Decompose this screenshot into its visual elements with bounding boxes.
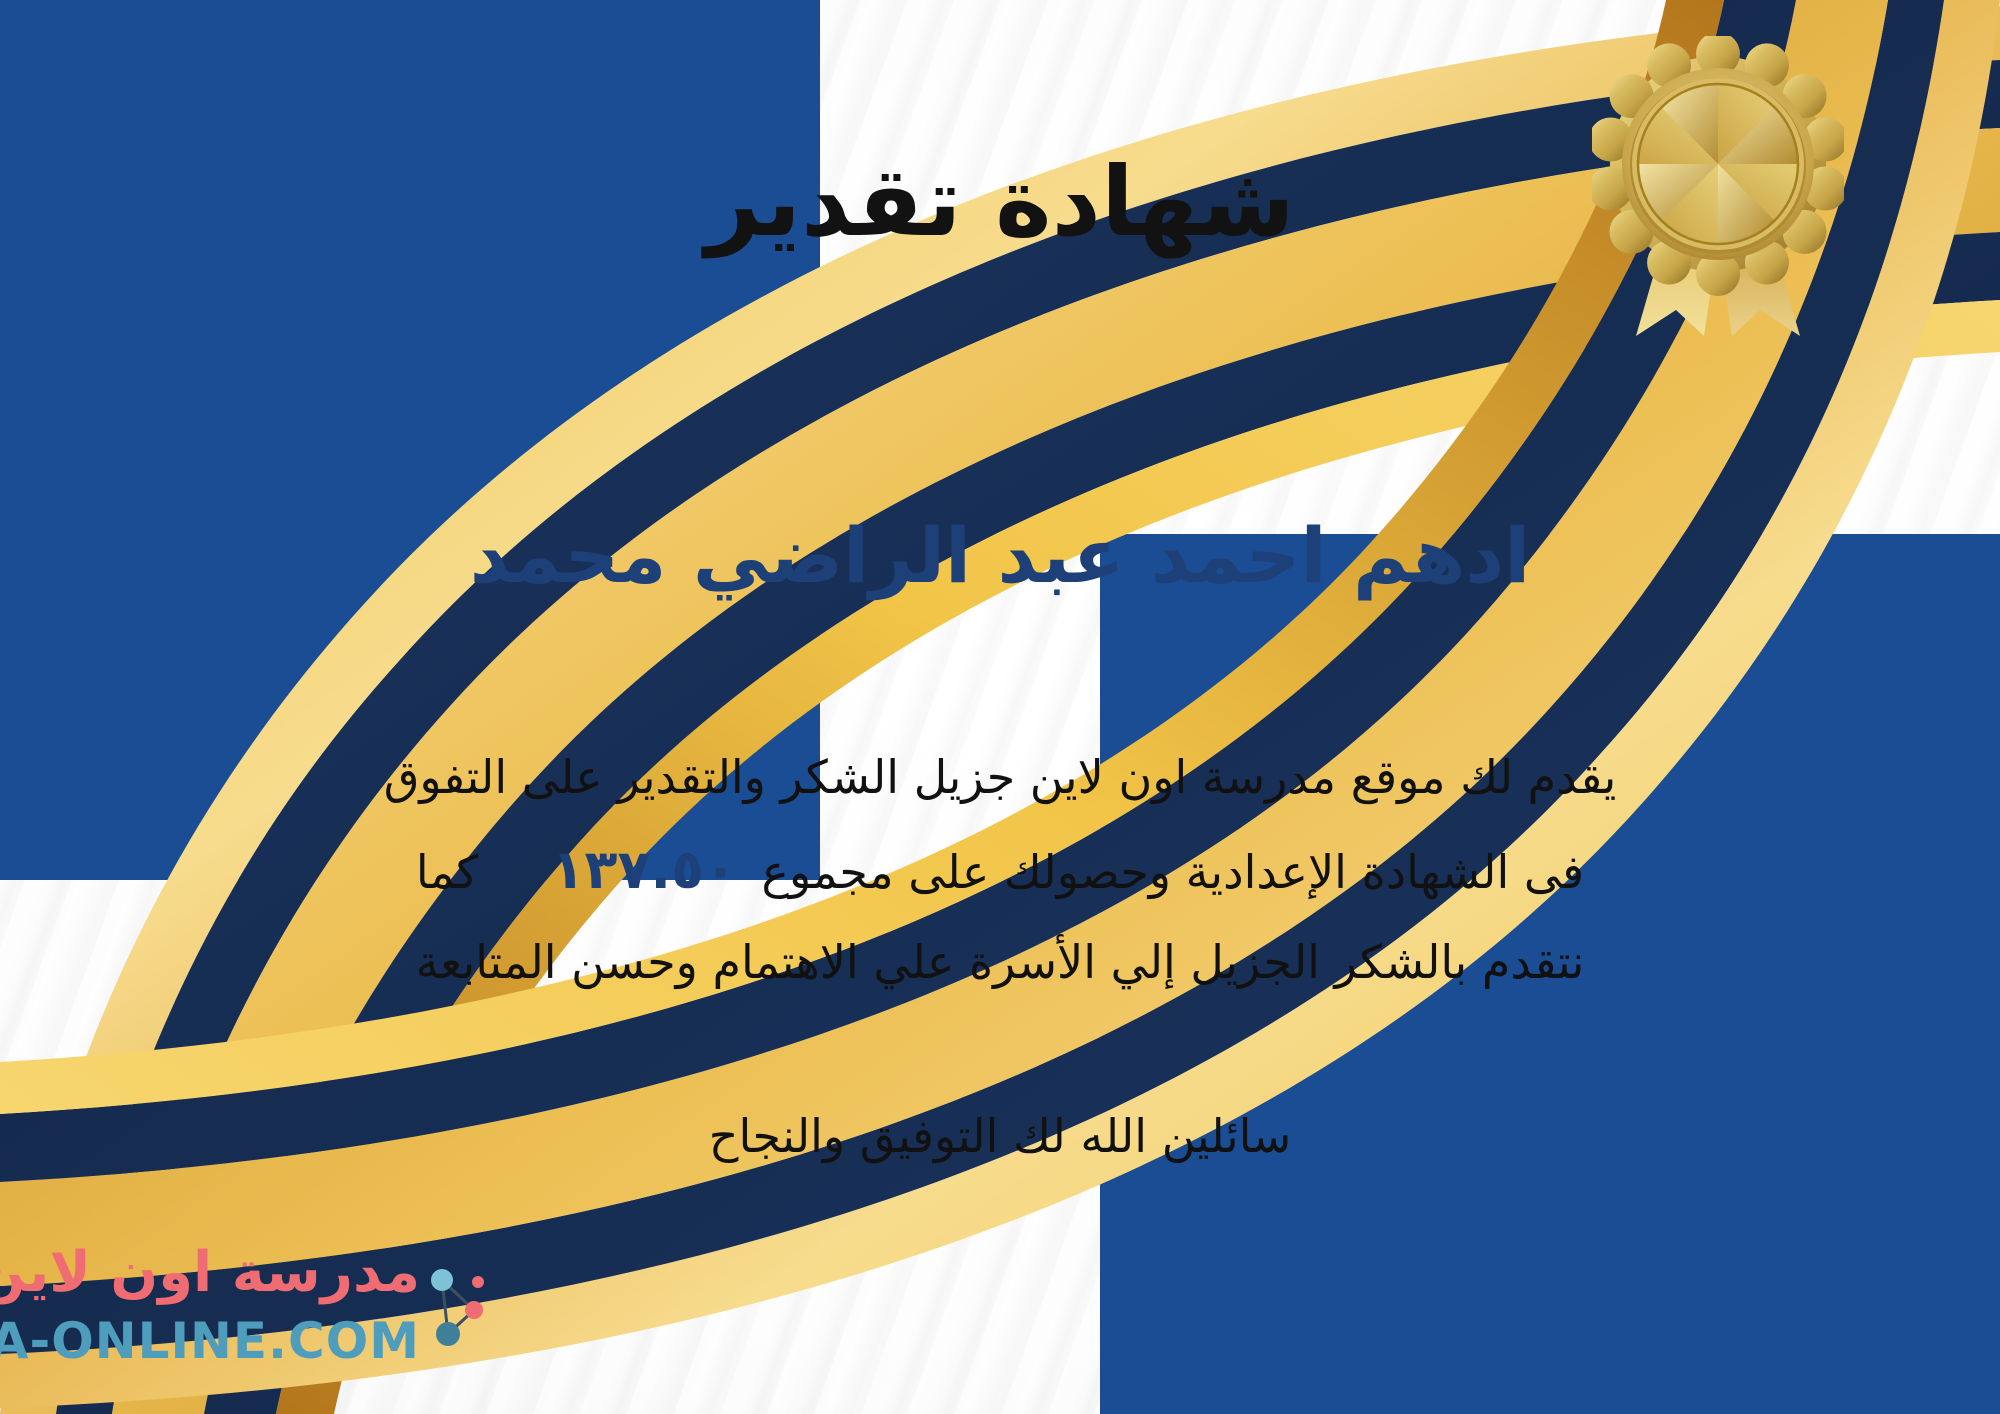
page-title: شهادة تقدير <box>0 150 2000 256</box>
body-line-2: فى الشهادة الإعدادية وحصولك على مجموع ١٣… <box>60 820 1940 920</box>
network-nodes-icon <box>426 1258 492 1354</box>
recipient-name: ادهم احمد عبد الراضي محمد <box>0 512 2000 599</box>
certificate-page: شهادة تقدير ادهم احمد عبد الراضي محمد يق… <box>0 0 2000 1414</box>
grade-total-value: ١٣٧.٥٠ <box>542 838 747 901</box>
body-line-3: نتقدم بالشكر الجزيل إلي الأسرة علي الاهت… <box>60 920 1940 1005</box>
brand-logo[interactable]: مدرسة اون لاين MADRSA-ONLINE.COM <box>22 1236 492 1386</box>
certificate-content: شهادة تقدير ادهم احمد عبد الراضي محمد يق… <box>0 0 2000 1414</box>
certificate-body: يقدم لك موقع مدرسة اون لاين جزيل الشكر و… <box>60 735 1940 1005</box>
closing-wish-line: سائلين الله لك التوفيق والنجاح <box>0 1100 2000 1174</box>
body-line-1: يقدم لك موقع مدرسة اون لاين جزيل الشكر و… <box>60 735 1940 820</box>
brand-website-url: MADRSA-ONLINE.COM <box>0 1312 420 1370</box>
brand-name-arabic: مدرسة اون لاين <box>0 1242 420 1304</box>
body-line-2-prefix: فى الشهادة الإعدادية وحصولك على مجموع <box>762 845 1585 899</box>
body-line-2-suffix: كما <box>416 845 479 899</box>
